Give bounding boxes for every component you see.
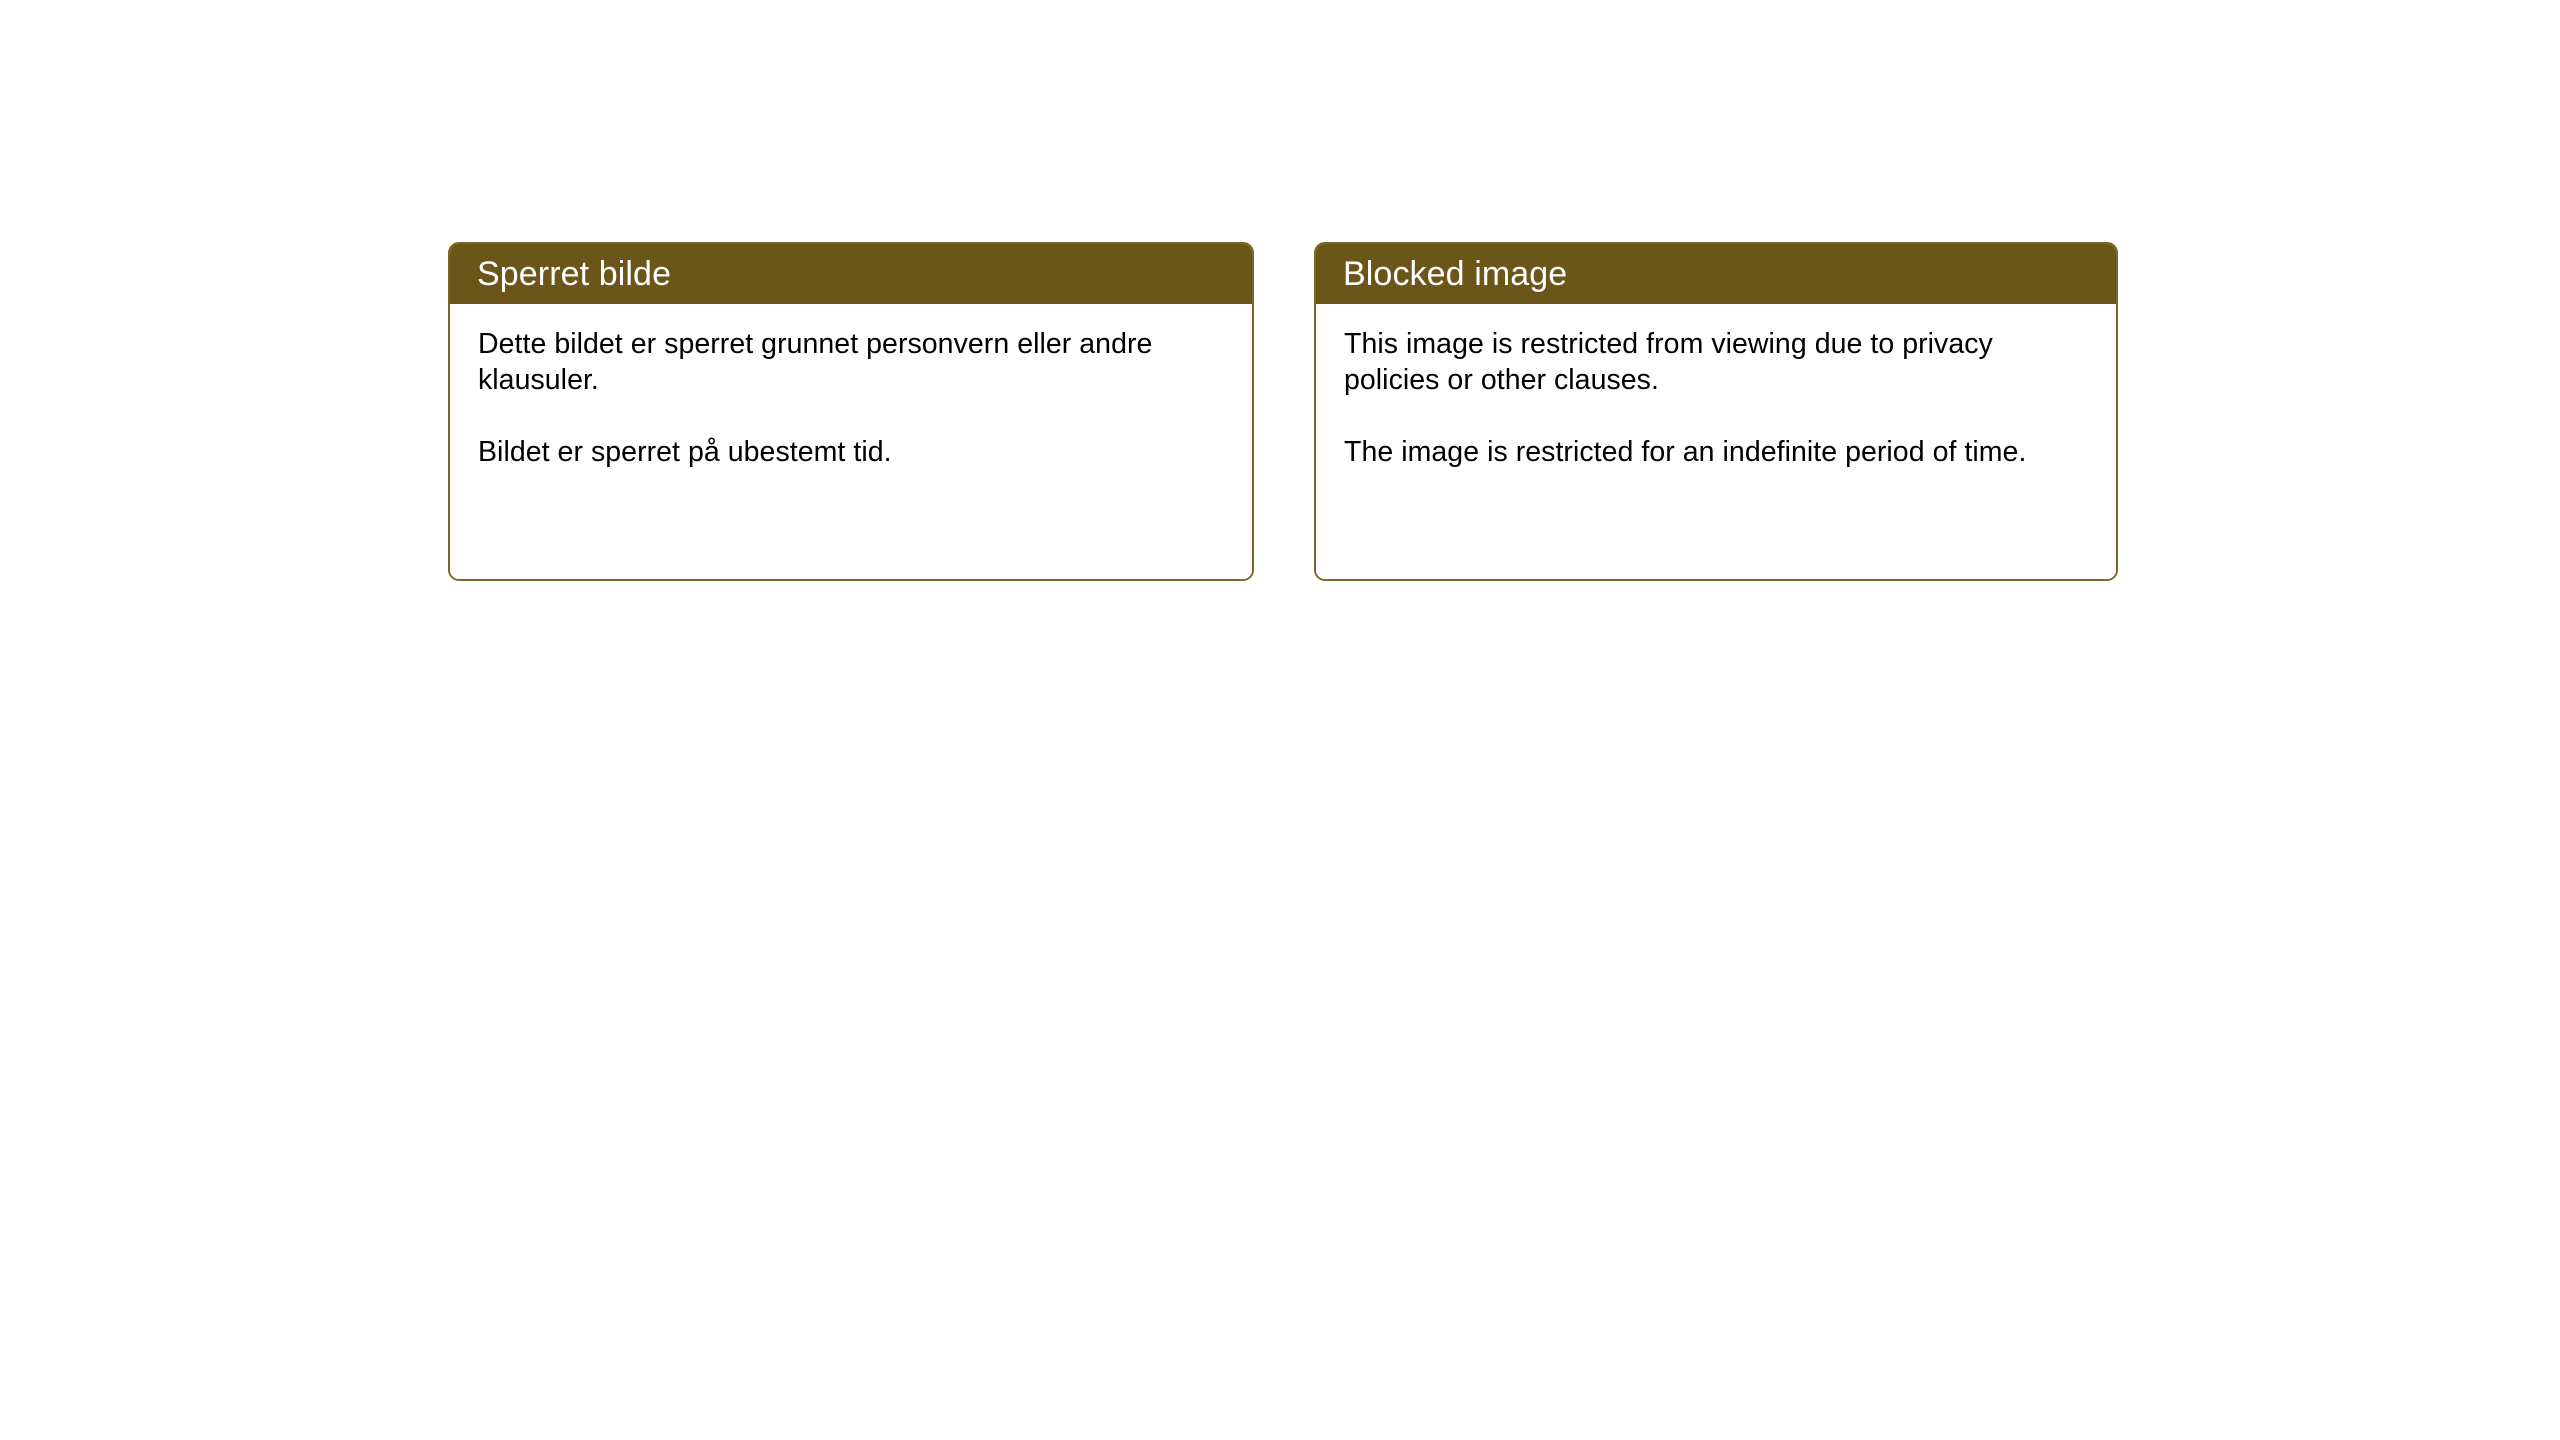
blocked-image-notice-card-english: Blocked image This image is restricted f… <box>1314 242 2118 581</box>
card-paragraph-reason-norwegian: Dette bildet er sperret grunnet personve… <box>478 326 1226 398</box>
card-body-norwegian: Dette bildet er sperret grunnet personve… <box>450 304 1252 579</box>
card-title-english: Blocked image <box>1343 257 1567 291</box>
card-paragraph-duration-norwegian: Bildet er sperret på ubestemt tid. <box>478 434 1226 470</box>
card-header-norwegian: Sperret bilde <box>450 244 1252 304</box>
card-paragraph-duration-english: The image is restricted for an indefinit… <box>1344 434 2090 470</box>
blocked-image-notice-card-norwegian: Sperret bilde Dette bildet er sperret gr… <box>448 242 1254 581</box>
card-body-english: This image is restricted from viewing du… <box>1316 304 2116 579</box>
page-canvas: Sperret bilde Dette bildet er sperret gr… <box>0 0 2560 1440</box>
card-paragraph-reason-english: This image is restricted from viewing du… <box>1344 326 2090 398</box>
card-header-english: Blocked image <box>1316 244 2116 304</box>
card-title-norwegian: Sperret bilde <box>477 257 671 291</box>
